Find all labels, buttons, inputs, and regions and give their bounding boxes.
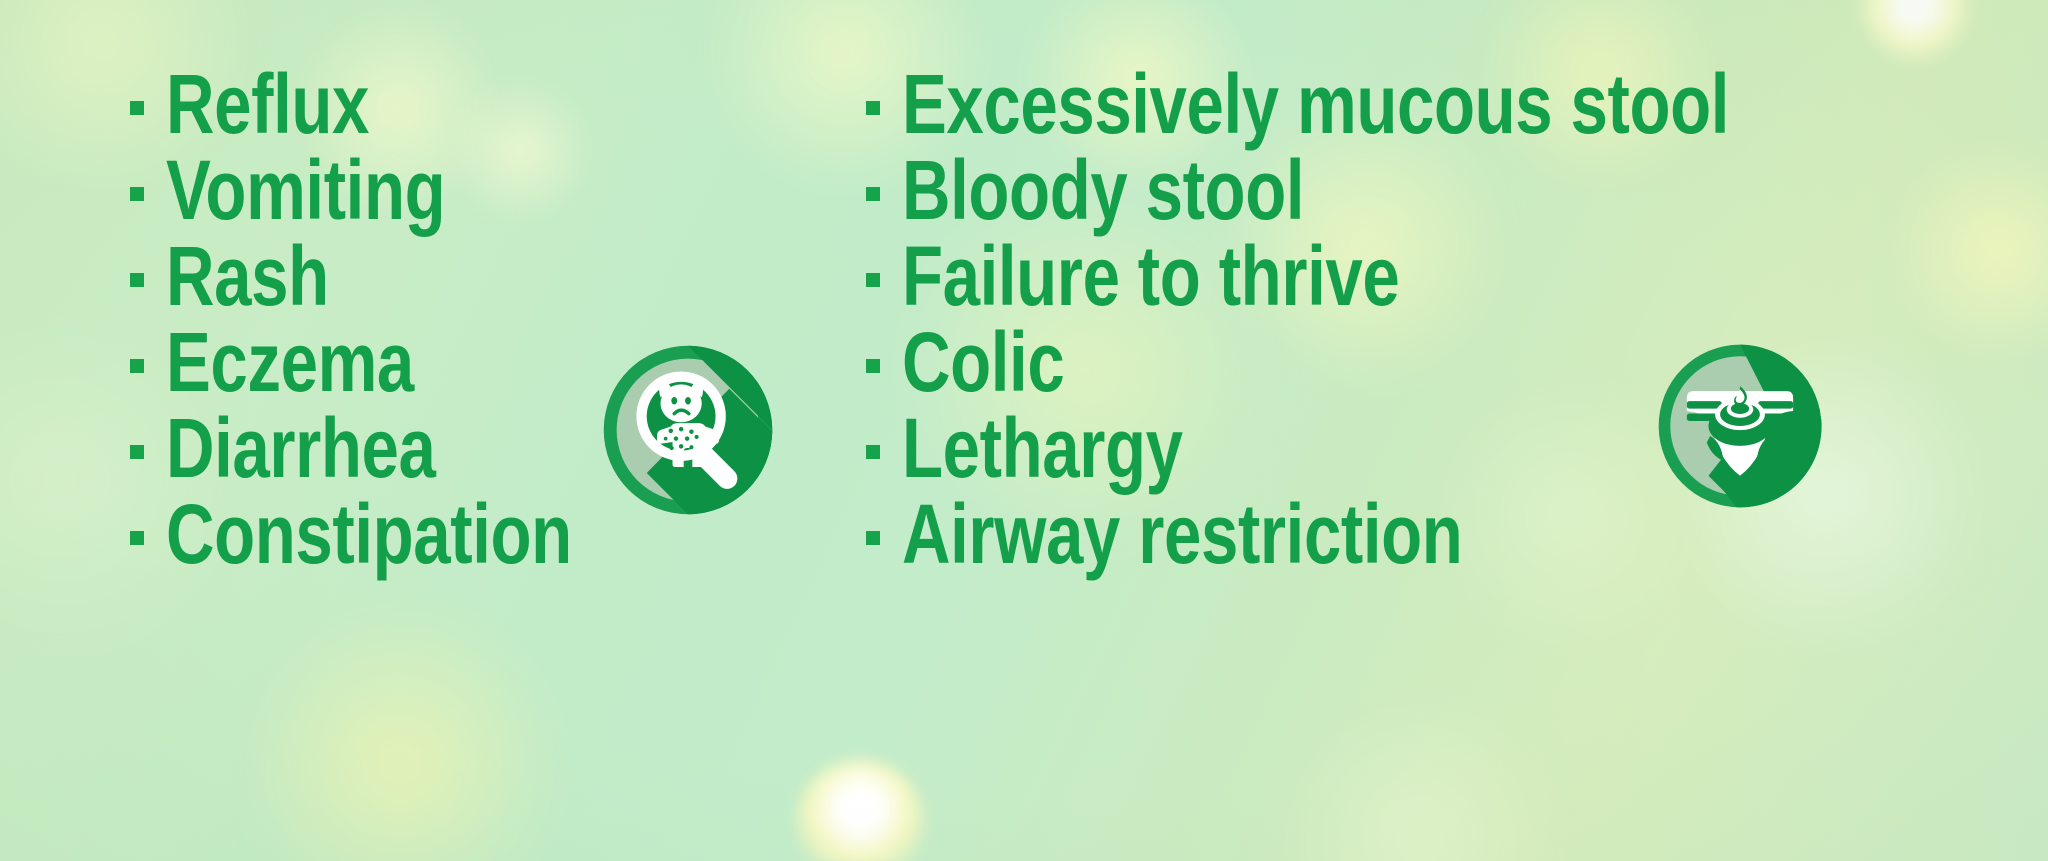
list-item: Failure to thrive: [866, 235, 1524, 321]
list-item: Vomiting: [130, 149, 515, 235]
square-bullet-icon: [130, 531, 144, 545]
list-item-label: Failure to thrive: [902, 234, 1399, 318]
list-item: Airway restriction: [866, 493, 1603, 579]
list-item: Lethargy: [866, 407, 1253, 493]
square-bullet-icon: [130, 101, 144, 115]
list-item: Excessively mucous stool: [866, 63, 1936, 149]
list-item-label: Reflux: [166, 62, 369, 146]
square-bullet-icon: [866, 273, 880, 287]
list-item: Diarrhea: [130, 407, 503, 493]
baby-under-magnifier-icon: [602, 344, 774, 516]
diaper-icon: [1657, 343, 1823, 509]
list-item-label: Airway restriction: [902, 492, 1462, 576]
square-bullet-icon: [866, 101, 880, 115]
list-item-label: Excessively mucous stool: [902, 62, 1729, 146]
list-item-label: Eczema: [166, 320, 414, 404]
list-item: Rash: [130, 235, 369, 321]
list-item-label: Colic: [902, 320, 1064, 404]
square-bullet-icon: [866, 531, 880, 545]
list-item: Colic: [866, 321, 1105, 407]
square-bullet-icon: [866, 359, 880, 373]
square-bullet-icon: [130, 187, 144, 201]
square-bullet-icon: [130, 445, 144, 459]
list-item-label: Diarrhea: [166, 406, 435, 490]
list-item: Constipation: [130, 493, 673, 579]
symptom-list-banner: Reflux Vomiting Rash Eczema Diarrhea Con…: [0, 0, 2048, 861]
list-item-label: Bloody stool: [902, 148, 1304, 232]
list-item-label: Rash: [166, 234, 329, 318]
square-bullet-icon: [866, 187, 880, 201]
square-bullet-icon: [866, 445, 880, 459]
list-item-label: Constipation: [166, 492, 572, 576]
list-item: Eczema: [130, 321, 476, 407]
square-bullet-icon: [130, 273, 144, 287]
square-bullet-icon: [130, 359, 144, 373]
list-item: Bloody stool: [866, 149, 1405, 235]
list-item: Reflux: [130, 63, 420, 149]
list-item-label: Lethargy: [902, 406, 1183, 490]
list-item-label: Vomiting: [166, 148, 445, 232]
